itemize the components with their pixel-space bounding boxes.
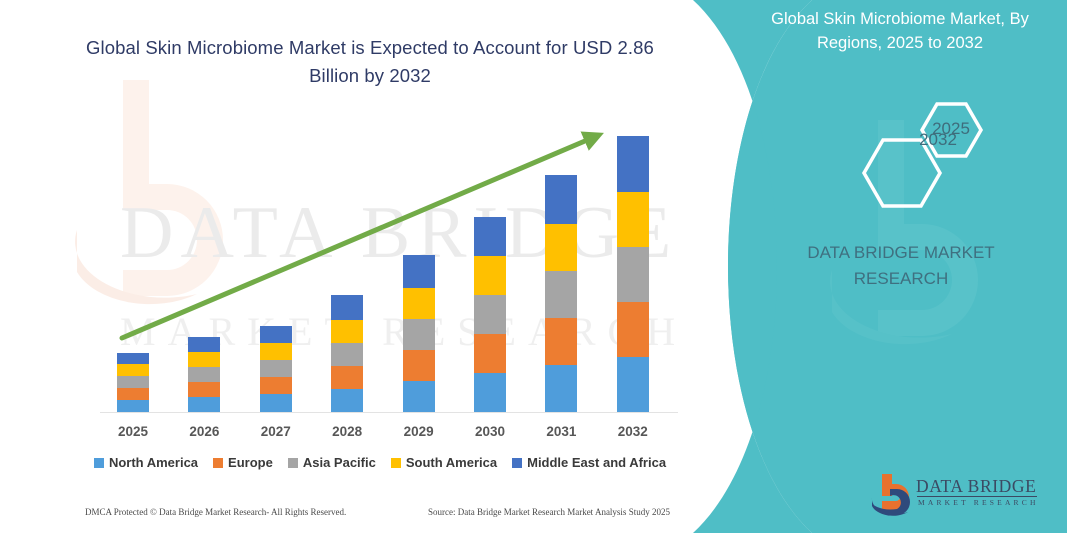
bar-segment (331, 366, 363, 389)
x-axis-tick-label: 2026 (174, 424, 234, 439)
bar-segment (117, 388, 149, 400)
legend-swatch-icon (288, 458, 298, 468)
bar-segment (188, 337, 220, 352)
legend-swatch-icon (391, 458, 401, 468)
bar-segment (474, 217, 506, 256)
right-panel-content: Global Skin Microbiome Market, By Region… (735, 0, 1067, 533)
bar-segment (474, 295, 506, 334)
legend-swatch-icon (213, 458, 223, 468)
x-axis-tick-label: 2029 (389, 424, 449, 439)
bar-segment (117, 400, 149, 412)
bar-segment (545, 175, 577, 224)
bar-segment (117, 376, 149, 388)
infographic-slide: DATA BRIDGE MARKET RESEARCH Global Skin … (0, 0, 1067, 533)
bar-segment (260, 360, 292, 377)
bar-segment (474, 334, 506, 373)
bar-segment (474, 256, 506, 295)
x-axis-tick-label: 2025 (103, 424, 163, 439)
bar-segment (331, 343, 363, 366)
dbmr-logo-subtitle: MARKET RESEARCH (918, 498, 1039, 507)
legend-label: Asia Pacific (303, 455, 376, 470)
x-axis-line (100, 412, 678, 413)
hexagon-group-icon (735, 90, 1067, 220)
legend-swatch-icon (512, 458, 522, 468)
right-panel-title: Global Skin Microbiome Market, By Region… (740, 8, 1060, 56)
legend-item[interactable]: South America (391, 455, 497, 470)
legend-item[interactable]: Asia Pacific (288, 455, 376, 470)
legend-swatch-icon (94, 458, 104, 468)
bar-segment (260, 394, 292, 412)
bar-segment (617, 302, 649, 357)
bar-segment (188, 352, 220, 367)
right-panel-brand: DATA BRIDGE MARKET RESEARCH (751, 240, 1051, 291)
bar-segment (331, 295, 363, 320)
x-axis-tick-label: 2030 (460, 424, 520, 439)
bar-segment (545, 365, 577, 412)
bar-segment (331, 389, 363, 412)
bar-segment (188, 367, 220, 382)
bar-segment (331, 320, 363, 343)
bar-segment (117, 364, 149, 376)
bar-segment (188, 397, 220, 412)
bar-segment (260, 377, 292, 394)
legend-label: Middle East and Africa (527, 455, 666, 470)
x-axis-tick-label: 2031 (531, 424, 591, 439)
bar-segment (545, 224, 577, 271)
hexagon-label-2025: 2025 (921, 119, 981, 139)
bar-segment (545, 318, 577, 365)
bar-segment (117, 353, 149, 364)
brand-line-2: RESEARCH (751, 266, 1051, 292)
bar-segment (188, 382, 220, 397)
brand-line-1: DATA BRIDGE MARKET (751, 240, 1051, 266)
x-axis-tick-label: 2032 (603, 424, 663, 439)
bar-segment (403, 255, 435, 288)
bar-segment (403, 350, 435, 381)
x-axis-tick-label: 2028 (317, 424, 377, 439)
dbmr-logo-title: DATA BRIDGE (916, 476, 1036, 497)
bar-segment (617, 136, 649, 192)
bar-segment (403, 381, 435, 412)
bar-segment (403, 288, 435, 319)
legend-label: Europe (228, 455, 273, 470)
legend-label: South America (406, 455, 497, 470)
bar-segment (260, 326, 292, 343)
bar-segment (617, 247, 649, 302)
stacked-bar-chart: 20252026202720282029203020312032 (0, 0, 760, 533)
bar-segment (260, 343, 292, 360)
legend-item[interactable]: North America (94, 455, 198, 470)
footer-source: Source: Data Bridge Market Research Mark… (428, 507, 670, 517)
chart-legend: North AmericaEuropeAsia PacificSouth Ame… (0, 455, 760, 470)
bar-segment (545, 271, 577, 318)
legend-label: North America (109, 455, 198, 470)
dbmr-logo: DATA BRIDGE MARKET RESEARCH (868, 470, 1043, 522)
bar-segment (617, 357, 649, 412)
bar-segment (403, 319, 435, 350)
bar-segment (474, 373, 506, 412)
legend-item[interactable]: Europe (213, 455, 273, 470)
chart-panel: DATA BRIDGE MARKET RESEARCH Global Skin … (0, 0, 760, 533)
legend-item[interactable]: Middle East and Africa (512, 455, 666, 470)
bar-segment (617, 192, 649, 247)
dbmr-logo-divider (917, 496, 1037, 497)
x-axis-tick-label: 2027 (246, 424, 306, 439)
footer-copyright: DMCA Protected © Data Bridge Market Rese… (85, 507, 346, 517)
